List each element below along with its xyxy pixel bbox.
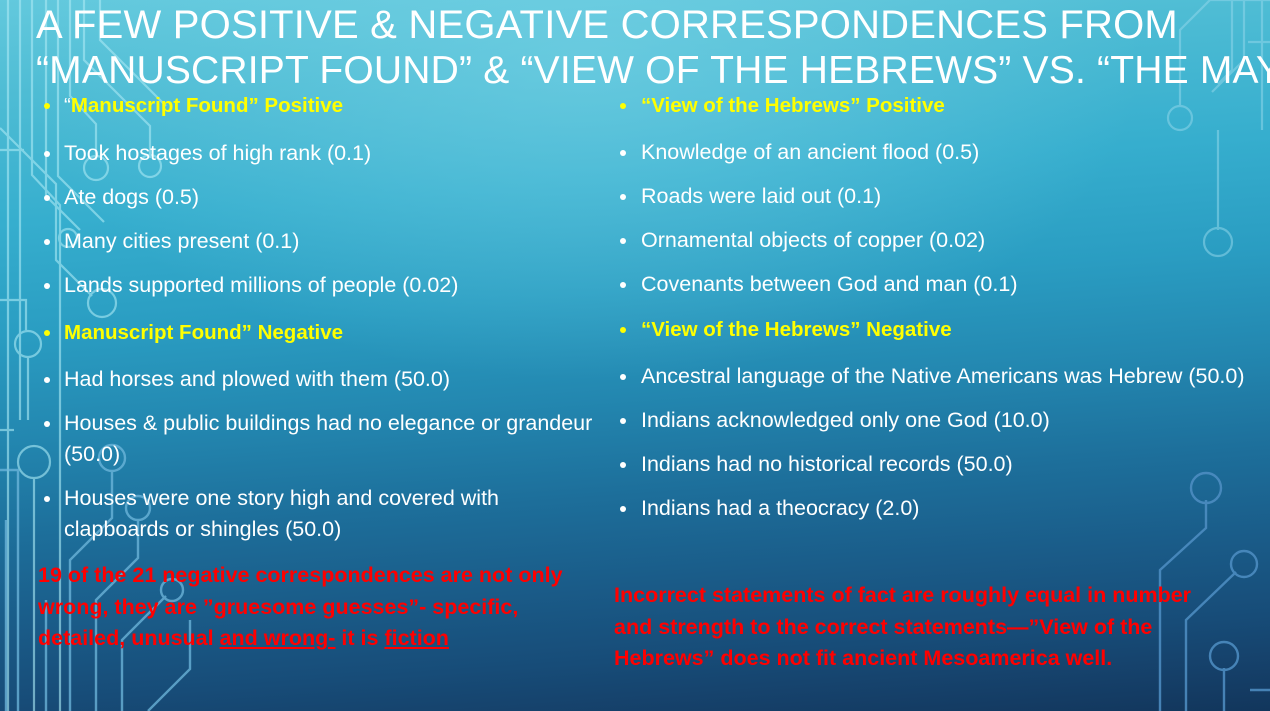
list-item-heading-manuscript-positive: “Manuscript Found” Positive xyxy=(36,90,596,121)
opening-quote-mark: “ xyxy=(64,94,71,117)
list-item: Lands supported millions of people (0.02… xyxy=(36,270,596,301)
slide-title-line-1: A Few Positive & Negative Correspondence… xyxy=(36,2,1251,48)
summary-underlined-and-wrong: and wrong- xyxy=(220,626,336,650)
list-item: Roads were laid out (0.1) xyxy=(612,181,1252,212)
list-item: Knowledge of an ancient flood (0.5) xyxy=(612,137,1252,168)
list-item: Covenants between God and man (0.1) xyxy=(612,269,1252,300)
list-item: Had horses and plowed with them (50.0) xyxy=(36,364,596,395)
list-item: Took hostages of high rank (0.1) xyxy=(36,138,596,169)
right-content-column: “View of the Hebrews” Positive Knowledge… xyxy=(612,90,1252,537)
slide-title: A Few Positive & Negative Correspondence… xyxy=(36,2,1251,94)
list-item: Ornamental objects of copper (0.02) xyxy=(612,225,1252,256)
left-summary-statement: 19 of the 21 negative correspondences ar… xyxy=(38,560,608,655)
list-item-label: Manuscript Found” Negative xyxy=(64,321,343,344)
list-item: Indians acknowledged only one God (10.0) xyxy=(612,405,1252,436)
list-item: Indians had no historical records (50.0) xyxy=(612,449,1252,480)
summary-part-2: it is xyxy=(335,626,384,650)
slide-title-line-2: “Manuscript Found” & “View of the Hebrew… xyxy=(36,48,1251,94)
list-item-heading-manuscript-negative: Manuscript Found” Negative xyxy=(36,317,596,348)
list-item-heading-view-hebrews-positive: “View of the Hebrews” Positive xyxy=(612,90,1252,121)
list-item-label: “View of the Hebrews” Positive xyxy=(641,94,945,117)
list-item: Ancestral language of the Native America… xyxy=(612,361,1252,392)
list-item: Houses & public buildings had no eleganc… xyxy=(36,408,596,470)
presentation-slide: A Few Positive & Negative Correspondence… xyxy=(0,0,1270,711)
left-content-column: “Manuscript Found” Positive Took hostage… xyxy=(36,90,596,558)
list-item-label: “View of the Hebrews” Negative xyxy=(641,318,952,341)
right-summary-statement: Incorrect statements of fact are roughly… xyxy=(614,580,1234,675)
list-item: Ate dogs (0.5) xyxy=(36,182,596,213)
list-item: Houses were one story high and covered w… xyxy=(36,483,596,545)
summary-underlined-fiction: fiction xyxy=(384,626,449,650)
list-item-heading-view-hebrews-negative: “View of the Hebrews” Negative xyxy=(612,314,1252,345)
list-item: Indians had a theocracy (2.0) xyxy=(612,493,1252,524)
list-item: Many cities present (0.1) xyxy=(36,226,596,257)
list-item-label: Manuscript Found” Positive xyxy=(71,94,343,117)
